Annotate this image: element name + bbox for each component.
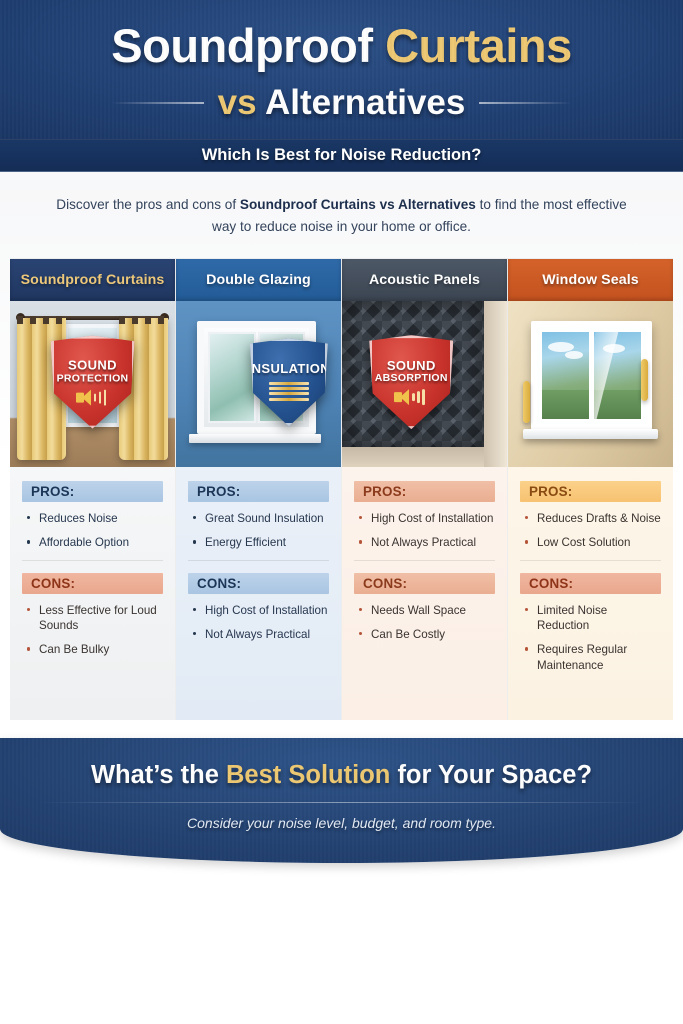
footer-rule [38, 802, 645, 803]
sub-banner-text: Which Is Best for Noise Reduction? [202, 146, 482, 165]
title-rule-left [112, 102, 204, 104]
column-header-4[interactable]: Window Seals [508, 259, 673, 301]
comparison-grid: Soundproof Curtains SOUND PROTECTION [10, 258, 673, 720]
column-soundproof-curtains: Soundproof Curtains SOUND PROTECTION [10, 259, 176, 720]
title-part-vs: vs [218, 83, 257, 122]
cons-bar-2: CONS: [188, 573, 329, 594]
pros-label-1: PROS: [31, 484, 74, 499]
pros-label-4: PROS: [529, 484, 572, 499]
column-title-1: Soundproof Curtains [21, 272, 165, 288]
floor-strip [342, 447, 484, 467]
badge-line2-1: PROTECTION [57, 372, 129, 384]
pros-list-3: High Cost of Installation Not Always Pra… [358, 511, 495, 551]
cloud-icon [603, 344, 625, 353]
window-seal-right [641, 359, 648, 401]
proscons-pane-3: PROS: High Cost of Installation Not Alwa… [342, 467, 507, 720]
pros-label-2: PROS: [197, 484, 240, 499]
cons-label-3: CONS: [363, 576, 407, 591]
infographic-poster: Soundproof Curtains vs Alternatives Whic… [0, 0, 683, 1024]
window-sill [523, 429, 658, 439]
insulation-bars-icon [269, 379, 309, 403]
pros-bar-3: PROS: [354, 481, 495, 502]
column-title-2: Double Glazing [206, 272, 311, 288]
grass-area [542, 390, 589, 420]
cons-list-2: High Cost of Installation Not Always Pra… [192, 603, 329, 643]
footer-banner: What’s the Best Solution for Your Space?… [0, 738, 683, 863]
list-item: Less Effective for Loud Sounds [26, 603, 163, 634]
column-window-seals: Window Seals [508, 259, 673, 720]
cons-label-2: CONS: [197, 576, 241, 591]
cons-list-4: Limited Noise Reduction Requires Regular… [524, 603, 661, 673]
badge-sound-protection: SOUND PROTECTION [51, 336, 135, 429]
window-pane-right [592, 330, 643, 422]
cons-label-4: CONS: [529, 576, 573, 591]
page-subtitle: vs Alternatives [218, 85, 466, 120]
divider-4 [520, 560, 661, 561]
badge-line1-2: INSULATION [248, 362, 330, 376]
title-part-soundproof: Soundproof [111, 19, 372, 72]
page-title: Soundproof Curtains [0, 22, 683, 69]
footer-subtitle: Consider your noise level, budget, and r… [0, 815, 683, 831]
column-header-1[interactable]: Soundproof Curtains [10, 259, 175, 301]
footer-title-gold: Best Solution [226, 761, 390, 789]
page-subtitle-row: vs Alternatives [0, 85, 683, 120]
pros-bar-2: PROS: [188, 481, 329, 502]
illustration-sealed-window-tan-wall [508, 301, 673, 467]
badge-sound-absorption: SOUND ABSORPTION [369, 335, 453, 429]
intro-bold: Soundproof Curtains vs Alternatives [240, 197, 476, 212]
list-item: Energy Efficient [192, 535, 329, 550]
intro-text-1: Discover the pros and cons of [56, 197, 240, 212]
cons-bar-4: CONS: [520, 573, 661, 594]
list-item: High Cost of Installation [358, 511, 495, 526]
speaker-icon [76, 390, 110, 406]
proscons-pane-2: PROS: Great Sound Insulation Energy Effi… [176, 467, 341, 720]
cons-label-1: CONS: [31, 576, 75, 591]
column-header-3[interactable]: Acoustic Panels [342, 259, 507, 301]
illustration-gold-curtains-window: SOUND PROTECTION [10, 301, 175, 467]
list-item: Reduces Drafts & Noise [524, 511, 661, 526]
illustration-acoustic-foam-panels: SOUND ABSORPTION [342, 301, 507, 467]
list-item: Limited Noise Reduction [524, 603, 661, 634]
side-wall [484, 301, 507, 467]
intro-paragraph: Discover the pros and cons of Soundproof… [0, 172, 683, 252]
list-item: Can Be Costly [358, 627, 495, 642]
title-rule-right [479, 102, 571, 104]
list-item: Low Cost Solution [524, 535, 661, 550]
badge-line1-3: SOUND [387, 359, 436, 373]
divider-2 [188, 560, 329, 561]
cons-bar-1: CONS: [22, 573, 163, 594]
cons-bar-3: CONS: [354, 573, 495, 594]
list-item: Requires Regular Maintenance [524, 642, 661, 673]
list-item: Can Be Bulky [26, 642, 163, 657]
column-double-glazing: Double Glazing INSULATION [176, 259, 342, 720]
badge-line2-3: ABSORPTION [375, 372, 448, 384]
curtain-rings-left [17, 316, 67, 324]
window-seal-left [523, 381, 530, 423]
window-sill [189, 434, 321, 443]
cloud-icon [565, 351, 583, 359]
column-title-3: Acoustic Panels [369, 272, 480, 288]
footer-title-part1: What’s the [91, 761, 226, 789]
list-item: Needs Wall Space [358, 603, 495, 618]
pros-bar-4: PROS: [520, 481, 661, 502]
window-pane-left [540, 330, 591, 422]
pros-bar-1: PROS: [22, 481, 163, 502]
grass-area [594, 390, 641, 420]
column-header-2[interactable]: Double Glazing [176, 259, 341, 301]
title-part-alternatives: Alternatives [265, 83, 465, 122]
badge-line1-1: SOUND [68, 359, 117, 373]
proscons-pane-4: PROS: Reduces Drafts & Noise Low Cost So… [508, 467, 673, 720]
list-item: Not Always Practical [192, 627, 329, 642]
list-item: Reduces Noise [26, 511, 163, 526]
list-item: Great Sound Insulation [192, 511, 329, 526]
pros-label-3: PROS: [363, 484, 406, 499]
column-acoustic-panels: Acoustic Panels SOUND ABSORPTION [342, 259, 508, 720]
sub-banner: Which Is Best for Noise Reduction? [0, 139, 683, 172]
cons-list-3: Needs Wall Space Can Be Costly [358, 603, 495, 643]
divider-3 [354, 560, 495, 561]
header-banner: Soundproof Curtains vs Alternatives [0, 0, 683, 139]
pros-list-2: Great Sound Insulation Energy Efficient [192, 511, 329, 551]
column-title-4: Window Seals [542, 272, 638, 288]
illustration-white-window-blue-wall: INSULATION [176, 301, 341, 467]
pros-list-1: Reduces Noise Affordable Option [26, 511, 163, 551]
list-item: High Cost of Installation [192, 603, 329, 618]
divider-1 [22, 560, 163, 561]
window-frame [531, 321, 651, 431]
speaker-icon [394, 389, 428, 405]
pros-list-4: Reduces Drafts & Noise Low Cost Solution [524, 511, 661, 551]
footer-title: What’s the Best Solution for Your Space? [0, 761, 683, 790]
list-item: Not Always Practical [358, 535, 495, 550]
curtain-rings-right [119, 316, 169, 324]
window-pane-left [208, 332, 255, 423]
title-part-curtains: Curtains [385, 19, 572, 72]
footer-title-part2: for Your Space? [390, 761, 592, 789]
list-item: Affordable Option [26, 535, 163, 550]
cons-list-1: Less Effective for Loud Sounds Can Be Bu… [26, 603, 163, 658]
proscons-pane-1: PROS: Reduces Noise Affordable Option CO… [10, 467, 175, 720]
badge-insulation: INSULATION [250, 338, 328, 426]
